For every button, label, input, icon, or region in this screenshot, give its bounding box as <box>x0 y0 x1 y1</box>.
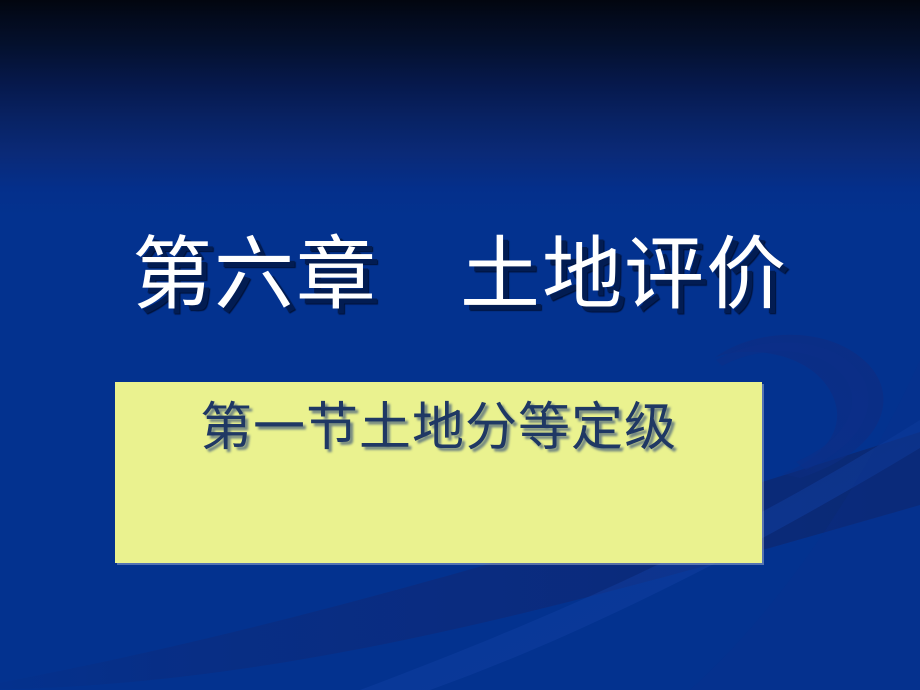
presentation-slide: 第六章 土地评价 第一节土地分等定级 <box>0 0 920 690</box>
slide-title: 第六章 土地评价 <box>0 228 920 324</box>
background-gradient-band <box>0 0 920 215</box>
subtitle-text: 第一节土地分等定级 <box>115 398 762 460</box>
subtitle-panel: 第一节土地分等定级 <box>115 382 762 563</box>
